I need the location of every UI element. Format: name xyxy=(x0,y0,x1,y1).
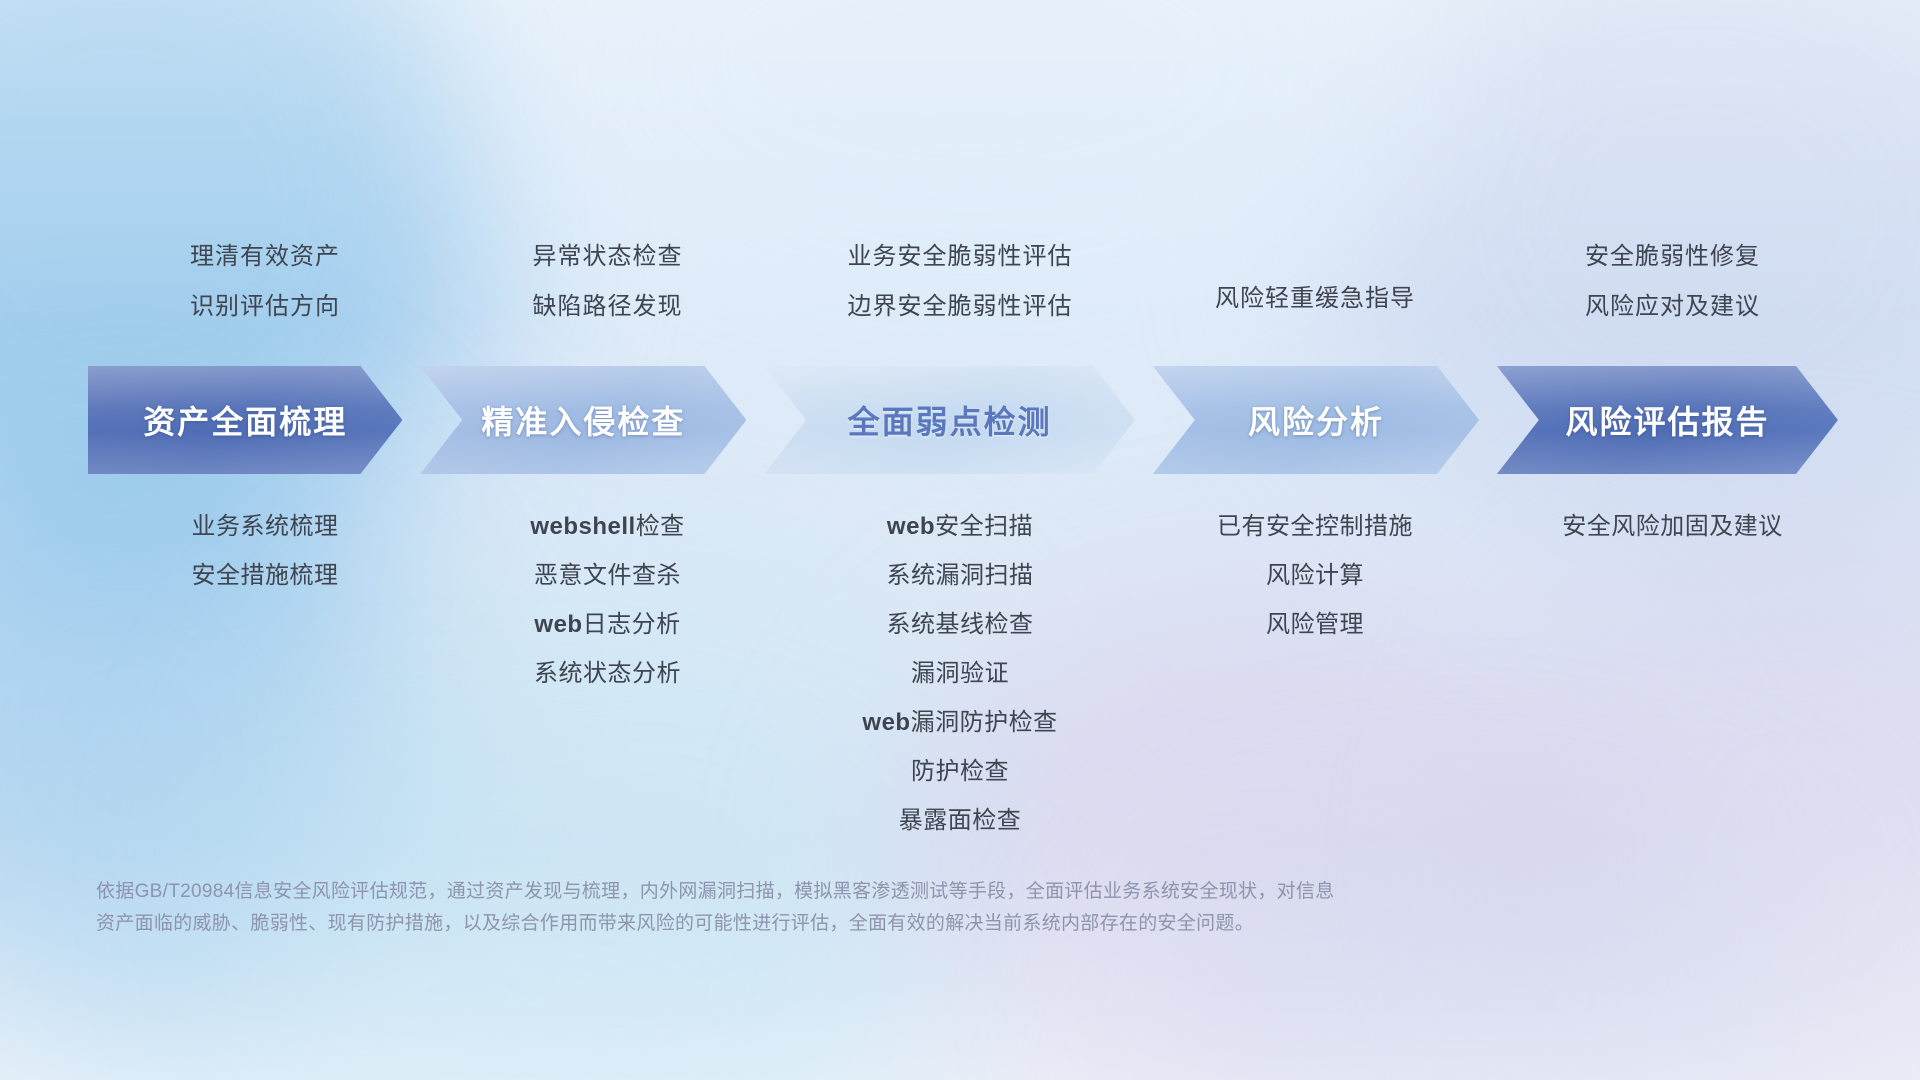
bottom-caption-group-5: 安全风险加固及建议 xyxy=(1490,502,1855,551)
process-diagram: 理清有效资产 识别评估方向 异常状态检查 缺陷路径发现 业务安全脆弱性评估 边界… xyxy=(0,0,1920,1080)
bottom-caption: 安全措施梳理 xyxy=(192,551,339,600)
stage-chevron-3[interactable]: 全面弱点检测 xyxy=(764,366,1135,474)
bottom-caption: 系统漏洞扫描 xyxy=(887,551,1034,600)
top-caption: 风险应对及建议 xyxy=(1585,282,1760,332)
latin-token: web xyxy=(862,709,910,736)
bottom-caption-group-2: webshell检查 恶意文件查杀 web日志分析 系统状态分析 xyxy=(435,502,780,698)
stage-label: 资产全面梳理 xyxy=(143,397,347,443)
footer-line: 依据GB/T20984信息安全风险评估规范，通过资产发现与梳理，内外网漏洞扫描，… xyxy=(96,876,1606,908)
footer-line: 资产面临的威胁、脆弱性、现有防护措施，以及综合作用而带来风险的可能性进行评估，全… xyxy=(96,908,1606,940)
top-caption-group-4: 风险轻重缓急指导 xyxy=(1140,232,1490,337)
bottom-caption: 已有安全控制措施 xyxy=(1217,502,1413,551)
latin-token: webshell xyxy=(530,513,635,540)
top-caption: 缺陷路径发现 xyxy=(533,282,683,332)
bottom-caption: 风险管理 xyxy=(1266,600,1364,649)
stage-chevron-2[interactable]: 精准入侵检查 xyxy=(420,366,746,474)
top-caption: 识别评估方向 xyxy=(190,282,340,332)
bottom-caption-group-3: web安全扫描 系统漏洞扫描 系统基线检查 漏洞验证 web漏洞防护检查 防护检… xyxy=(780,502,1140,845)
bottom-caption-row: 业务系统梳理 安全措施梳理 webshell检查 恶意文件查杀 web日志分析 … xyxy=(95,502,1855,845)
bottom-caption: webshell检查 xyxy=(530,502,684,551)
bottom-caption: 风险计算 xyxy=(1266,551,1364,600)
stage-chevron-4[interactable]: 风险分析 xyxy=(1153,366,1479,474)
bottom-caption: web安全扫描 xyxy=(887,502,1033,551)
bottom-caption: 安全风险加固及建议 xyxy=(1562,502,1783,551)
latin-token: web xyxy=(887,513,935,540)
bottom-caption: 漏洞验证 xyxy=(911,649,1009,698)
bottom-caption: web日志分析 xyxy=(534,600,680,649)
top-caption: 边界安全脆弱性评估 xyxy=(848,282,1073,332)
top-caption: 理清有效资产 xyxy=(190,232,340,282)
stage-label: 全面弱点检测 xyxy=(848,397,1052,443)
chevron-spacer xyxy=(1135,366,1153,474)
chevron-spacer xyxy=(1479,366,1497,474)
bottom-caption: 恶意文件查杀 xyxy=(534,551,681,600)
top-caption-group-5: 安全脆弱性修复 风险应对及建议 xyxy=(1490,232,1855,337)
bottom-caption-group-4: 已有安全控制措施 风险计算 风险管理 xyxy=(1140,502,1490,649)
top-caption-row: 理清有效资产 识别评估方向 异常状态检查 缺陷路径发现 业务安全脆弱性评估 边界… xyxy=(95,232,1855,337)
footer-description: 依据GB/T20984信息安全风险评估规范，通过资产发现与梳理，内外网漏洞扫描，… xyxy=(96,876,1606,940)
top-caption-group-1: 理清有效资产 识别评估方向 xyxy=(95,232,435,337)
stage-chevron-1[interactable]: 资产全面梳理 xyxy=(88,366,402,474)
stage-chevron-5[interactable]: 风险评估报告 xyxy=(1497,366,1838,474)
top-caption-group-2: 异常状态检查 缺陷路径发现 xyxy=(435,232,780,337)
top-caption-group-3: 业务安全脆弱性评估 边界安全脆弱性评估 xyxy=(780,232,1140,337)
bottom-caption: 系统状态分析 xyxy=(534,649,681,698)
stage-label: 风险评估报告 xyxy=(1565,397,1769,443)
stage-chevron-band: 资产全面梳理 精准入侵检查 全面弱点检测 风险分析 风险评估报告 xyxy=(88,366,1838,474)
top-caption: 风险轻重缓急指导 xyxy=(1215,274,1415,324)
stage-label: 风险分析 xyxy=(1248,397,1384,443)
chevron-spacer xyxy=(746,366,764,474)
bottom-caption: 暴露面检查 xyxy=(899,796,1022,845)
chevron-spacer xyxy=(402,366,420,474)
latin-token: web xyxy=(534,611,582,638)
bottom-caption: 业务系统梳理 xyxy=(192,502,339,551)
top-caption: 业务安全脆弱性评估 xyxy=(848,232,1073,282)
top-caption: 安全脆弱性修复 xyxy=(1585,232,1760,282)
stage-label: 精准入侵检查 xyxy=(481,397,685,443)
bottom-caption: 系统基线检查 xyxy=(887,600,1034,649)
bottom-caption-group-1: 业务系统梳理 安全措施梳理 xyxy=(95,502,435,600)
bottom-caption: 防护检查 xyxy=(911,747,1009,796)
top-caption: 异常状态检查 xyxy=(533,232,683,282)
bottom-caption: web漏洞防护检查 xyxy=(862,698,1057,747)
